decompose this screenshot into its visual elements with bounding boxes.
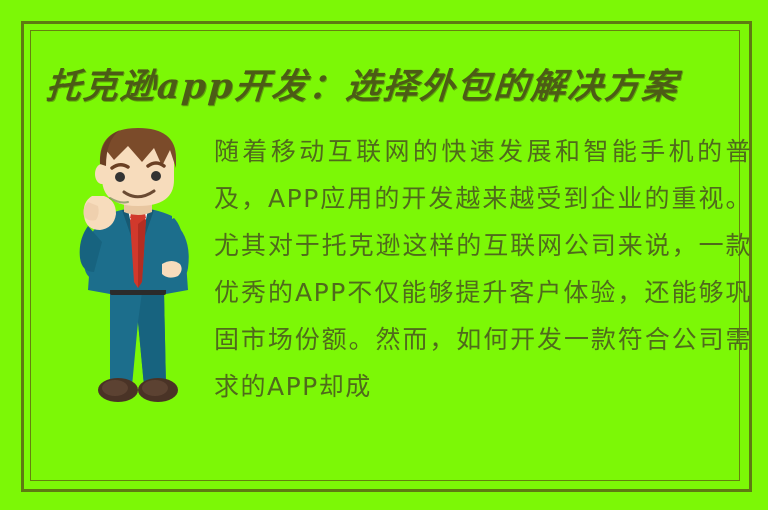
poster-canvas: 托克逊app开发：选择外包的解决方案: [0, 0, 768, 510]
article-paragraph: 随着移动互联网的快速发展和智能手机的普及，APP应用的开发越来越受到企业的重视。…: [214, 128, 752, 418]
thinking-businessman-illustration: [58, 122, 208, 418]
page-title: 托克逊app开发：选择外包的解决方案: [44, 58, 738, 116]
